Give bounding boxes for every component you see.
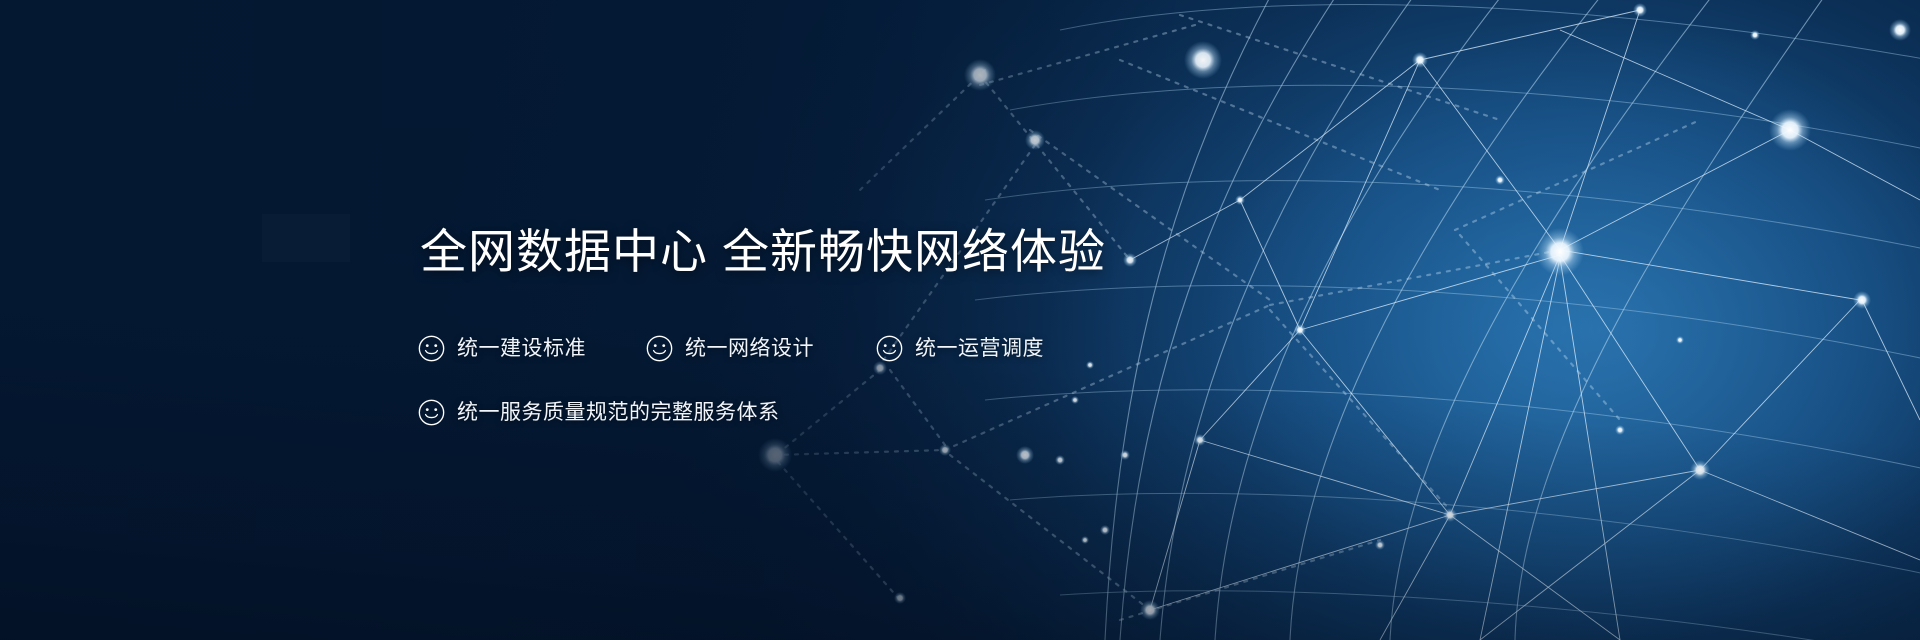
feature-item-unified-construction-standard[interactable]: 统一建设标准 bbox=[418, 335, 586, 362]
headline-accent-block bbox=[262, 214, 350, 262]
smiley-face-icon bbox=[876, 335, 903, 362]
feature-label: 统一运营调度 bbox=[915, 338, 1044, 359]
feature-item-unified-service-quality-system[interactable]: 统一服务质量规范的完整服务体系 bbox=[418, 399, 780, 426]
feature-item-unified-network-design[interactable]: 统一网络设计 bbox=[646, 335, 814, 362]
feature-row: 统一服务质量规范的完整服务体系 bbox=[418, 396, 1044, 428]
feature-row: 统一建设标准 统一网络设计 bbox=[418, 332, 1044, 364]
feature-list: 统一建设标准 统一网络设计 bbox=[418, 332, 1044, 460]
smiley-face-icon bbox=[646, 335, 673, 362]
smiley-face-icon bbox=[418, 399, 445, 426]
banner-content: 全网数据中心 全新畅快网络体验 统一建设标准 bbox=[0, 0, 1920, 640]
page-title: 全网数据中心 全新畅快网络体验 bbox=[420, 228, 1106, 275]
feature-label: 统一服务质量规范的完整服务体系 bbox=[457, 402, 780, 423]
smiley-face-icon bbox=[418, 335, 445, 362]
feature-label: 统一建设标准 bbox=[457, 338, 586, 359]
feature-label: 统一网络设计 bbox=[685, 338, 814, 359]
hero-banner: 全网数据中心 全新畅快网络体验 统一建设标准 bbox=[0, 0, 1920, 640]
feature-item-unified-operation-scheduling[interactable]: 统一运营调度 bbox=[876, 335, 1044, 362]
